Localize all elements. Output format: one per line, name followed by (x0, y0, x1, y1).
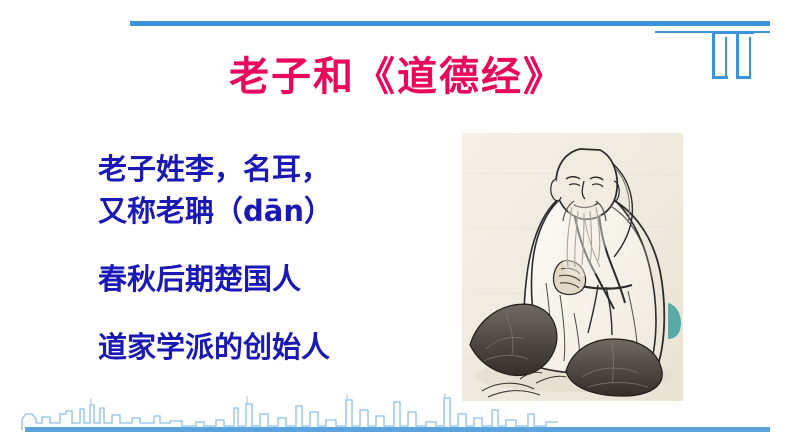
page-title: 老子和《道德经》 (0, 44, 794, 102)
body-line-2: 又称老聃（dān） (98, 190, 448, 232)
body-line-3: 春秋后期楚国人 (98, 258, 448, 300)
body-line-4: 道家学派的创始人 (98, 326, 448, 368)
bottom-rule (25, 427, 770, 432)
body-text-block: 老子姓李，名耳， 又称老聃（dān） 春秋后期楚国人 道家学派的创始人 (98, 148, 448, 368)
laozi-ink-painting (462, 133, 683, 401)
top-rule-thick (130, 21, 770, 26)
city-skyline-outline-icon (20, 392, 560, 432)
body-line-1: 老子姓李，名耳， (98, 148, 448, 190)
slide-canvas: 老子和《道德经》 老子姓李，名耳， 又称老聃（dān） 春秋后期楚国人 道家学派… (0, 0, 794, 447)
